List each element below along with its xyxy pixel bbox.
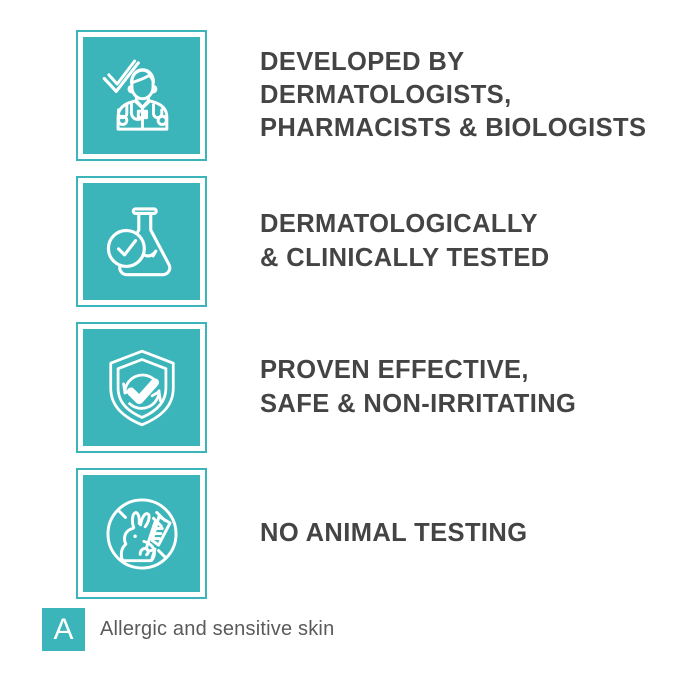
- feature-label: NO ANIMAL TESTING: [260, 517, 527, 550]
- tile-fill: [83, 37, 200, 154]
- tile-fill: [83, 475, 200, 592]
- feature-row: DEVELOPED BY DERMATOLOGISTS, PHARMACISTS…: [76, 30, 666, 161]
- feature-row: DERMATOLOGICALLY & CLINICALLY TESTED: [76, 176, 666, 307]
- feature-icon-tile: [76, 322, 207, 453]
- shield-check-icon: [96, 342, 188, 434]
- tile-fill: [83, 329, 200, 446]
- product-claims-panel: DEVELOPED BY DERMATOLOGISTS, PHARMACISTS…: [0, 0, 679, 679]
- tile-fill: [83, 183, 200, 300]
- doctor-check-icon: [96, 50, 188, 142]
- feature-icon-tile: [76, 468, 207, 599]
- no-animal-testing-icon: [96, 488, 188, 580]
- allergic-skin-badge: A: [42, 608, 85, 651]
- feature-label: DEVELOPED BY DERMATOLOGISTS, PHARMACISTS…: [260, 46, 646, 145]
- feature-label: DERMATOLOGICALLY & CLINICALLY TESTED: [260, 208, 550, 274]
- skin-type-footer: A Allergic and sensitive skin: [42, 608, 334, 651]
- feature-icon-tile: [76, 176, 207, 307]
- flask-check-icon: [96, 196, 188, 288]
- feature-icon-tile: [76, 30, 207, 161]
- feature-row: PROVEN EFFECTIVE, SAFE & NON-IRRITATING: [76, 322, 666, 453]
- skin-type-label: Allergic and sensitive skin: [100, 618, 334, 641]
- feature-label: PROVEN EFFECTIVE, SAFE & NON-IRRITATING: [260, 354, 576, 420]
- feature-row: NO ANIMAL TESTING: [76, 468, 666, 599]
